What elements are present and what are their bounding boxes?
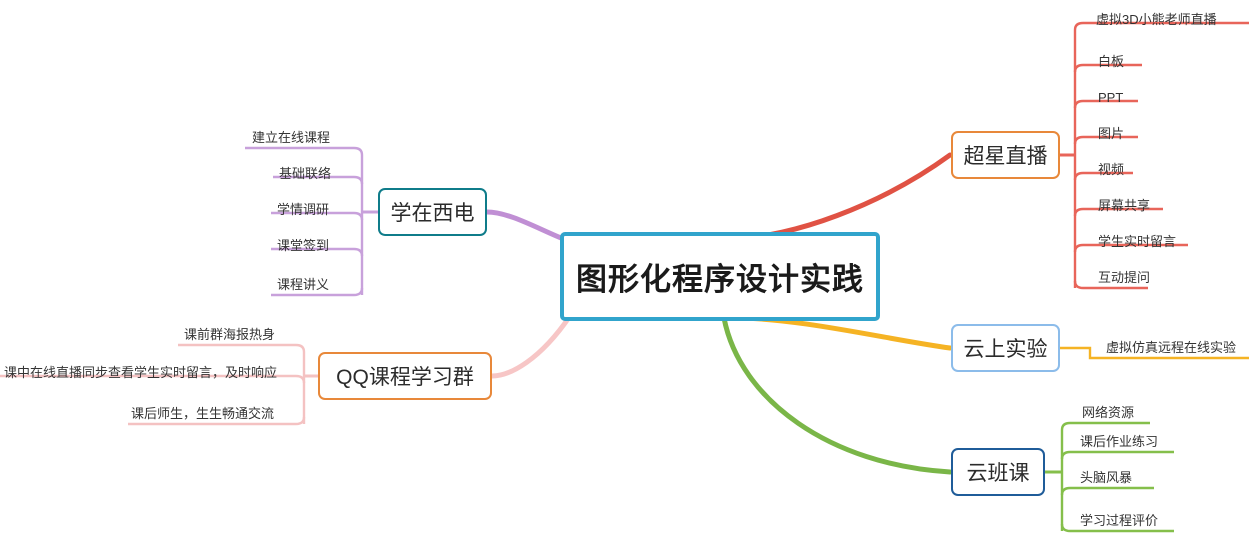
branch-label-chaoxing: 超星直播 bbox=[964, 140, 1048, 170]
branch-node-qqgroup[interactable]: QQ课程学习群 bbox=[318, 352, 492, 400]
leaf-label: PPT bbox=[1098, 90, 1123, 105]
branch-label-yunshang: 云上实验 bbox=[964, 333, 1048, 363]
leaf-label: 头脑风暴 bbox=[1080, 470, 1132, 485]
leaf-qqgroup-2[interactable]: 课后师生，生生畅通交流 bbox=[131, 406, 274, 421]
edge-to-xuezaixidian bbox=[487, 212, 566, 240]
leaf-yunbanke-3[interactable]: 学习过程评价 bbox=[1080, 513, 1158, 528]
leaf-label: 学习过程评价 bbox=[1080, 513, 1158, 528]
edge-to-yunbanke bbox=[724, 318, 950, 472]
branch-label-xuezaixidian: 学在西电 bbox=[391, 197, 475, 227]
leaf-xuezaixidian-2[interactable]: 学情调研 bbox=[277, 202, 329, 217]
leaf-label: 课程讲义 bbox=[277, 277, 329, 292]
leaf-label: 白板 bbox=[1098, 54, 1124, 69]
leaf-label: 课堂签到 bbox=[277, 238, 329, 253]
branch-node-xuezaixidian[interactable]: 学在西电 bbox=[378, 188, 487, 236]
leaf-chaoxing-7[interactable]: 互动提问 bbox=[1098, 270, 1150, 285]
branch-node-chaoxing[interactable]: 超星直播 bbox=[951, 131, 1060, 179]
leaf-chaoxing-5[interactable]: 屏幕共享 bbox=[1098, 198, 1150, 213]
branch-label-qqgroup: QQ课程学习群 bbox=[336, 361, 474, 391]
central-node-label: 图形化程序设计实践 bbox=[576, 254, 864, 299]
leaf-label: 屏幕共享 bbox=[1098, 198, 1150, 213]
branch-node-yunbanke[interactable]: 云班课 bbox=[951, 448, 1045, 496]
edge-to-yunshang bbox=[735, 318, 950, 348]
leaf-chaoxing-1[interactable]: 白板 bbox=[1098, 54, 1124, 69]
central-node[interactable]: 图形化程序设计实践 bbox=[560, 232, 880, 321]
leaf-xuezaixidian-1[interactable]: 基础联络 bbox=[279, 166, 331, 181]
leaf-xuezaixidian-3[interactable]: 课堂签到 bbox=[277, 238, 329, 253]
leaf-yunbanke-2[interactable]: 头脑风暴 bbox=[1080, 470, 1132, 485]
branch-node-yunshang[interactable]: 云上实验 bbox=[951, 324, 1060, 372]
leaf-xuezaixidian-0[interactable]: 建立在线课程 bbox=[252, 130, 330, 145]
leaf-label: 虚拟3D小熊老师直播 bbox=[1096, 12, 1217, 27]
leaf-qqgroup-0[interactable]: 课前群海报热身 bbox=[184, 327, 275, 342]
edge-to-qqgroup bbox=[492, 316, 570, 376]
leaf-chaoxing-2[interactable]: PPT bbox=[1098, 90, 1123, 105]
leaf-chaoxing-6[interactable]: 学生实时留言 bbox=[1098, 234, 1176, 249]
leaf-label: 课前群海报热身 bbox=[184, 327, 275, 342]
leaf-qqgroup-1[interactable]: 课中在线直播同步查看学生实时留言，及时响应 bbox=[4, 365, 277, 380]
leaf-label: 建立在线课程 bbox=[252, 130, 330, 145]
leaf-label: 课中在线直播同步查看学生实时留言，及时响应 bbox=[4, 365, 277, 380]
leaf-xuezaixidian-4[interactable]: 课程讲义 bbox=[277, 277, 329, 292]
leaf-label: 互动提问 bbox=[1098, 270, 1150, 285]
mindmap-canvas: 图形化程序设计实践 超星直播 云上实验 云班课 学在西电 QQ课程学习群 虚拟3… bbox=[0, 0, 1249, 554]
leaf-label: 虚拟仿真远程在线实验 bbox=[1106, 340, 1236, 355]
leaf-label: 视频 bbox=[1098, 162, 1124, 177]
leaf-yunshang-0[interactable]: 虚拟仿真远程在线实验 bbox=[1106, 340, 1236, 355]
branch-label-yunbanke: 云班课 bbox=[967, 457, 1030, 487]
leaf-label: 图片 bbox=[1098, 126, 1124, 141]
leaf-label: 学情调研 bbox=[277, 202, 329, 217]
edge-to-chaoxing bbox=[735, 155, 950, 238]
leaf-chaoxing-4[interactable]: 视频 bbox=[1098, 162, 1124, 177]
leaf-label: 课后师生，生生畅通交流 bbox=[131, 406, 274, 421]
leaf-chaoxing-3[interactable]: 图片 bbox=[1098, 126, 1124, 141]
leaf-yunbanke-1[interactable]: 课后作业练习 bbox=[1080, 434, 1158, 449]
leaf-label: 学生实时留言 bbox=[1098, 234, 1176, 249]
leaf-yunbanke-0[interactable]: 网络资源 bbox=[1082, 405, 1134, 420]
leaf-label: 课后作业练习 bbox=[1080, 434, 1158, 449]
leaf-chaoxing-0[interactable]: 虚拟3D小熊老师直播 bbox=[1096, 12, 1217, 27]
leaf-label: 基础联络 bbox=[279, 166, 331, 181]
leaf-label: 网络资源 bbox=[1082, 405, 1134, 420]
